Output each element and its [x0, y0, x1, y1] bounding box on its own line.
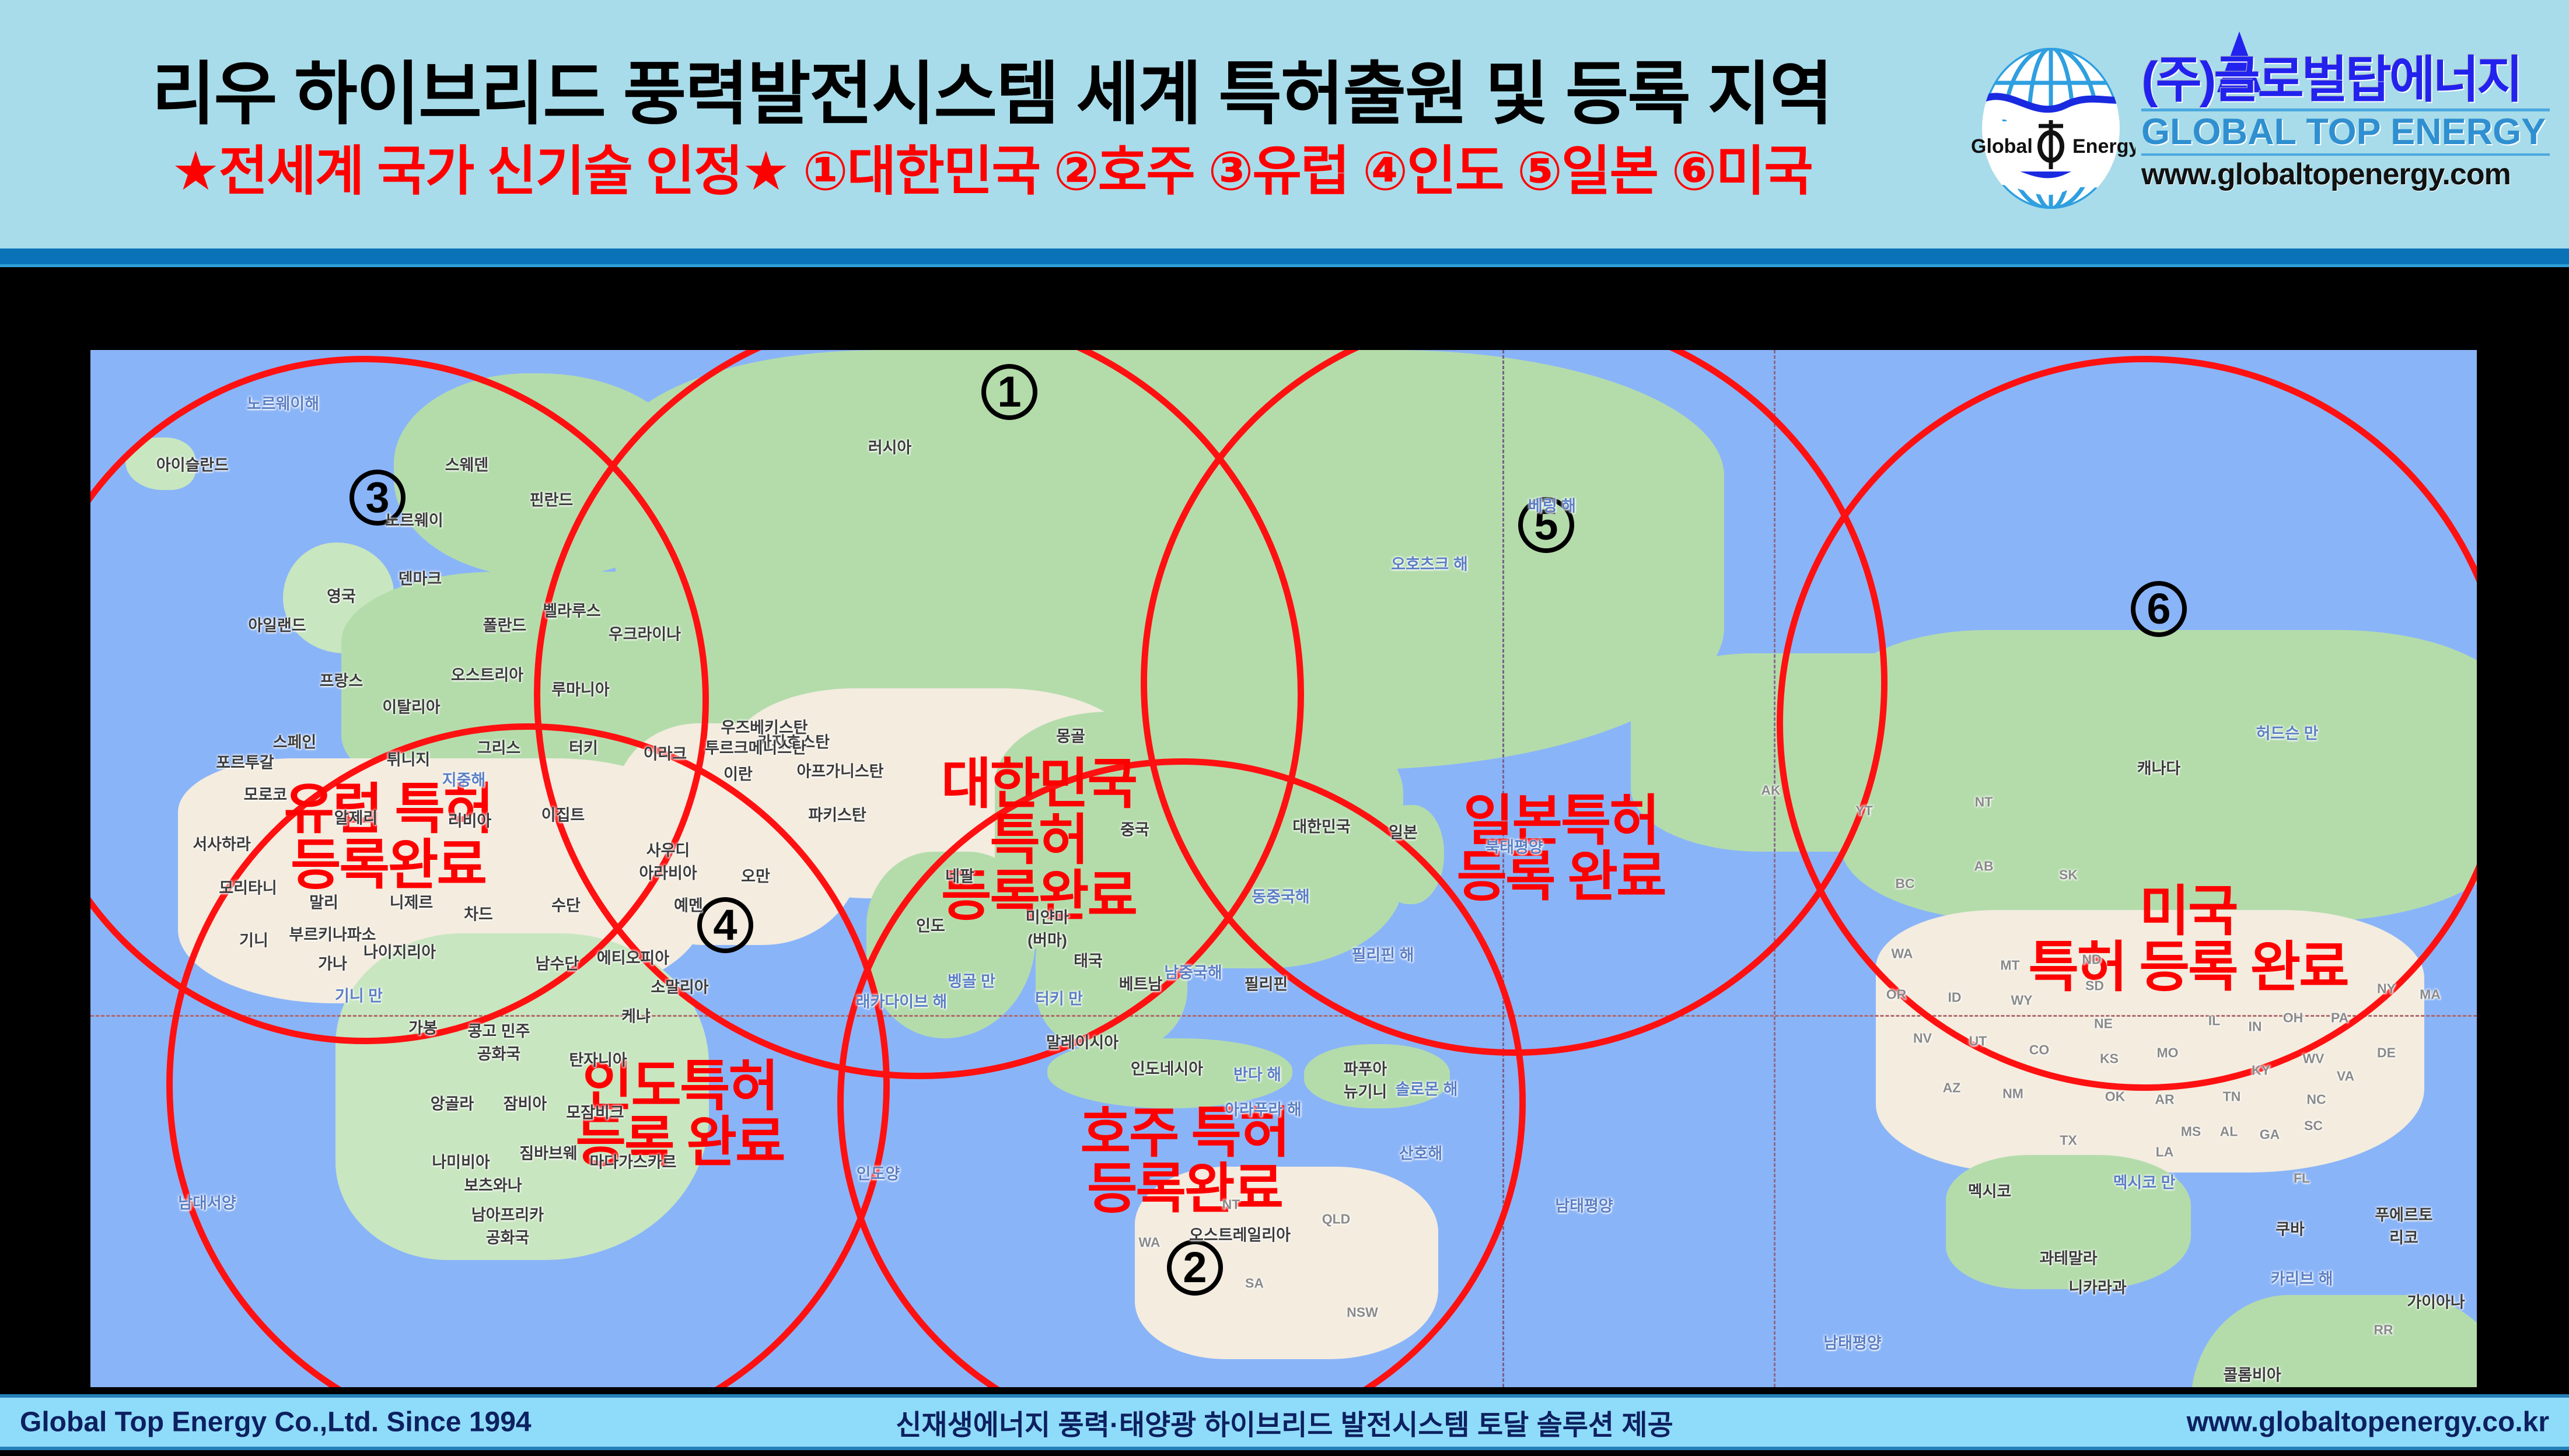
callout-australia: 호주 특허 등록완료 — [1080, 1105, 1288, 1217]
header-text-block: 리우 하이브리드 풍력발전시스템 세계 특허출원 및 등록 지역 ★전세계 국가… — [82, 56, 1902, 203]
company-name-english: GLOBAL TOP ENERGY — [2141, 114, 2550, 150]
callout-australia-line2: 등록완료 — [1087, 1158, 1282, 1219]
map-label: 쿠바 — [2276, 1217, 2305, 1240]
map-label: FL — [2294, 1171, 2310, 1186]
footer-company: Global Top Energy Co.,Ltd. Since 1994 — [20, 1406, 532, 1438]
callout-korea: 대한민국 특허 등록완료 — [941, 756, 1136, 924]
callout-korea-line1: 대한민국 — [941, 753, 1136, 814]
page-subtitle: ★전세계 국가 신기술 인정★ ①대한민국 ②호주 ③유럽 ④인도 ⑤일본 ⑥미… — [82, 141, 1902, 203]
header-accent-bar — [0, 249, 2569, 267]
map-label: 남태평양 — [1823, 1331, 1881, 1353]
callout-europe-line1: 유럽 특허 — [284, 778, 492, 839]
logo-text-block: (주)글로벌탑에너지 GLOBAL TOP ENERGY www.globalt… — [2141, 55, 2550, 190]
region-marker-4[interactable]: 4 — [697, 897, 753, 953]
callout-korea-line3: 등록완료 — [941, 865, 1136, 926]
callout-korea-line2: 특허 — [990, 809, 1088, 870]
header-banner: 리우 하이브리드 풍력발전시스템 세계 특허출원 및 등록 지역 ★전세계 국가… — [0, 0, 2569, 249]
callout-usa-line1: 미국 — [2140, 880, 2237, 942]
page-title: 리우 하이브리드 풍력발전시스템 세계 특허출원 및 등록 지역 — [82, 56, 1902, 133]
region-marker-3[interactable]: 3 — [349, 470, 406, 526]
logo-divider-bottom — [2141, 153, 2550, 156]
globe-right-word: Energy — [2072, 135, 2135, 157]
map-label: 푸에르토리코 — [2375, 1202, 2432, 1248]
landmass-mexico — [1946, 1155, 2191, 1289]
landmass-south-america — [2191, 1295, 2477, 1387]
region-marker-2[interactable]: 2 — [1167, 1240, 1223, 1296]
callout-japan-line2: 등록 완료 — [1456, 846, 1665, 907]
callout-europe-line2: 등록완료 — [291, 834, 485, 895]
company-name-korean: (주)글로벌탑에너지 — [2141, 55, 2550, 105]
callout-india: 인도특허 등록 완료 — [575, 1058, 784, 1170]
callout-australia-line1: 호주 특허 — [1080, 1102, 1288, 1163]
company-logo[interactable]: Global Energy (주)글로벌탑에너지 GLOBAL TOP ENER… — [1966, 41, 2550, 216]
map-label: 카리브 해 — [2271, 1266, 2333, 1289]
world-map[interactable]: 3 1 5 6 4 2 유럽 특허 등록완료 대한민국 특허 등록완료 일본특허… — [90, 350, 2477, 1387]
callout-japan: 일본특허 등록 완료 — [1456, 793, 1665, 905]
region-marker-1[interactable]: 1 — [981, 364, 1037, 420]
callout-india-line1: 인도특허 — [582, 1055, 777, 1116]
globe-icon: Global Energy — [1966, 47, 2135, 210]
region-marker-5[interactable]: 5 — [1518, 497, 1574, 553]
callout-europe: 유럽 특허 등록완료 — [284, 781, 492, 893]
globe-left-word: Global — [1971, 135, 2033, 157]
region-marker-6[interactable]: 6 — [2131, 581, 2187, 637]
map-label: 남태평양 — [1555, 1193, 1613, 1216]
company-website[interactable]: www.globaltopenergy.com — [2141, 159, 2550, 190]
callout-usa: 미국 특허 등록 완료 — [2028, 883, 2347, 995]
callout-usa-line2: 특허 등록 완료 — [2028, 936, 2347, 998]
footer-tagline: 신재생에너지 풍력·태양광 하이브리드 발전시스템 토달 솔루션 제공 — [896, 1402, 1673, 1443]
callout-india-line2: 등록 완료 — [575, 1111, 784, 1172]
footer-bar: Global Top Energy Co.,Ltd. Since 1994 신재… — [0, 1394, 2569, 1450]
callout-japan-line1: 일본특허 — [1463, 790, 1658, 851]
footer-website[interactable]: www.globaltopenergy.co.kr — [2187, 1406, 2549, 1438]
